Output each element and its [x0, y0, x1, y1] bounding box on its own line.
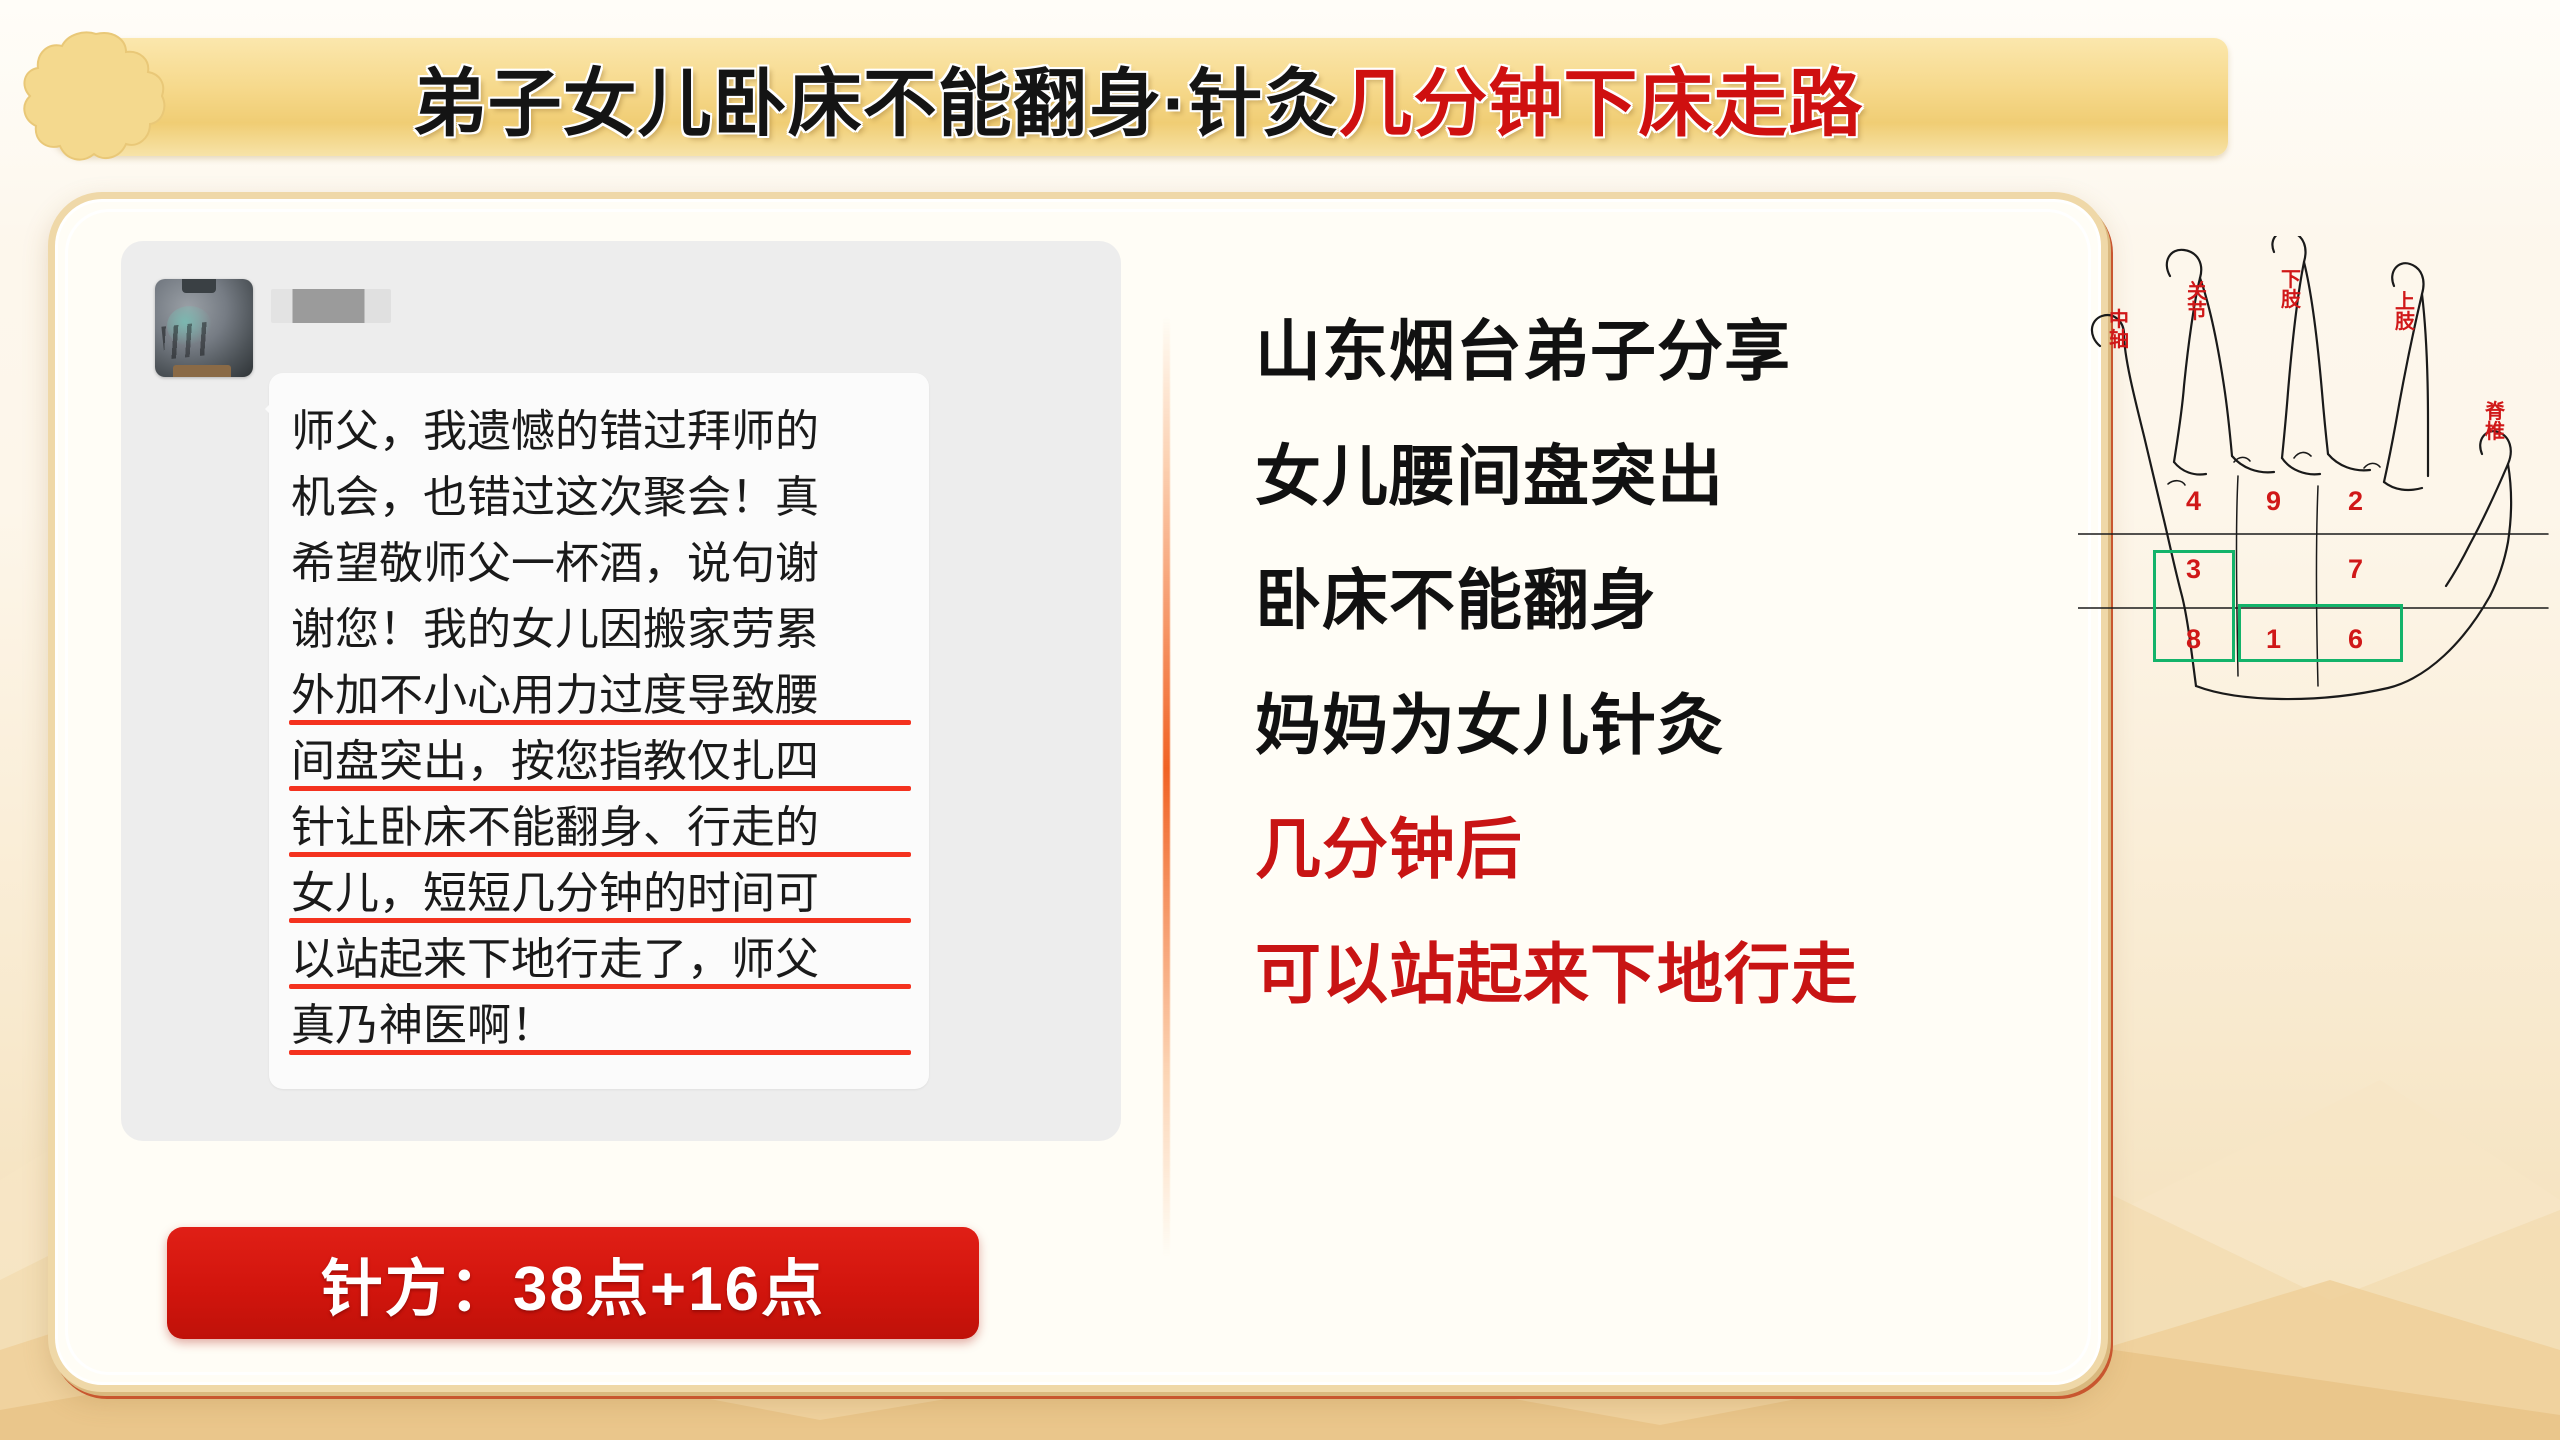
chat-screenshot: 师父，我遗憾的错过拜师的 机会，也错过这次聚会！真 希望敬师父一杯酒，说句谢 谢…: [121, 241, 1121, 1141]
message-line: 谢您！我的女儿因搬家劳累: [291, 597, 907, 663]
summary-point: 卧床不能翻身: [1255, 560, 2075, 641]
title-red-text: 几分钟下床走路: [1338, 44, 1863, 151]
avatar: [155, 279, 253, 377]
contact-name-redacted: [271, 289, 391, 323]
hand-label-guanjie: 关节: [2184, 282, 2210, 323]
page-title: 弟子女儿卧床不能翻身·针灸几分钟下床走路: [48, 38, 2228, 156]
summary-point: 女儿腰间盘突出: [1255, 436, 2075, 517]
hand-zone-number: 7: [2348, 554, 2363, 585]
hand-zone-number: 6: [2348, 624, 2363, 655]
content-card: 师父，我遗憾的错过拜师的 机会，也错过这次聚会！真 希望敬师父一杯酒，说句谢 谢…: [48, 192, 2108, 1392]
hand-label-shangzhi: 上肢: [2392, 292, 2418, 333]
message-line: 机会，也错过这次聚会！真: [291, 465, 907, 531]
hand-zone-number: 2: [2348, 486, 2363, 517]
avatar-detail-calligraphy: [161, 322, 215, 360]
hand-label-zhongzhou: 中轴: [2106, 310, 2132, 351]
column-divider: [1163, 317, 1170, 1257]
chat-message-bubble: 师父，我遗憾的错过拜师的 机会，也错过这次聚会！真 希望敬师父一杯酒，说句谢 谢…: [269, 373, 929, 1089]
hand-zone-number: 9: [2266, 486, 2281, 517]
summary-point: 几分钟后: [1255, 809, 2075, 890]
hand-label-xiazhi: 下肢: [2278, 270, 2304, 311]
prescription-label: 针方：38点+16点: [321, 1238, 825, 1328]
summary-point: 妈妈为女儿针灸: [1255, 685, 2075, 766]
avatar-detail-base: [173, 365, 232, 377]
hand-acupuncture-diagram: 中轴 关节 下肢 上肢 脊椎 4 9 2 3 7 8 1 6: [2078, 236, 2560, 706]
message-line: 师父，我遗憾的错过拜师的: [291, 399, 907, 465]
title-black-text: 弟子女儿卧床不能翻身·针灸: [413, 44, 1339, 151]
summary-point: 山东烟台弟子分享: [1255, 311, 2075, 392]
hand-label-jizhui: 脊椎: [2482, 402, 2508, 443]
message-line: 外加不小心用力过度导致腰: [291, 663, 907, 729]
hand-highlight-box: [2238, 604, 2403, 662]
message-line: 间盘突出，按您指教仅扎四: [291, 729, 907, 795]
prescription-banner: 针方：38点+16点: [167, 1227, 979, 1339]
message-line: 希望敬师父一杯酒，说句谢: [291, 531, 907, 597]
hand-zone-number: 8: [2186, 624, 2201, 655]
chat-contact-header: [155, 279, 391, 377]
hand-zone-number: 3: [2186, 554, 2201, 585]
avatar-detail-neck: [182, 279, 215, 293]
message-line: 女儿，短短几分钟的时间可: [291, 861, 907, 927]
message-line: 针让卧床不能翻身、行走的: [291, 795, 907, 861]
summary-points: 山东烟台弟子分享 女儿腰间盘突出 卧床不能翻身 妈妈为女儿针灸 几分钟后 可以站…: [1255, 311, 2075, 1058]
summary-point: 可以站起来下地行走: [1255, 934, 2075, 1015]
hand-zone-number: 1: [2266, 624, 2281, 655]
title-banner: 弟子女儿卧床不能翻身·针灸几分钟下床走路: [48, 38, 2228, 156]
hand-zone-number: 4: [2186, 486, 2201, 517]
message-line: 以站起来下地行走了，师父: [291, 927, 907, 993]
message-line: 真乃神医啊！: [291, 993, 907, 1059]
